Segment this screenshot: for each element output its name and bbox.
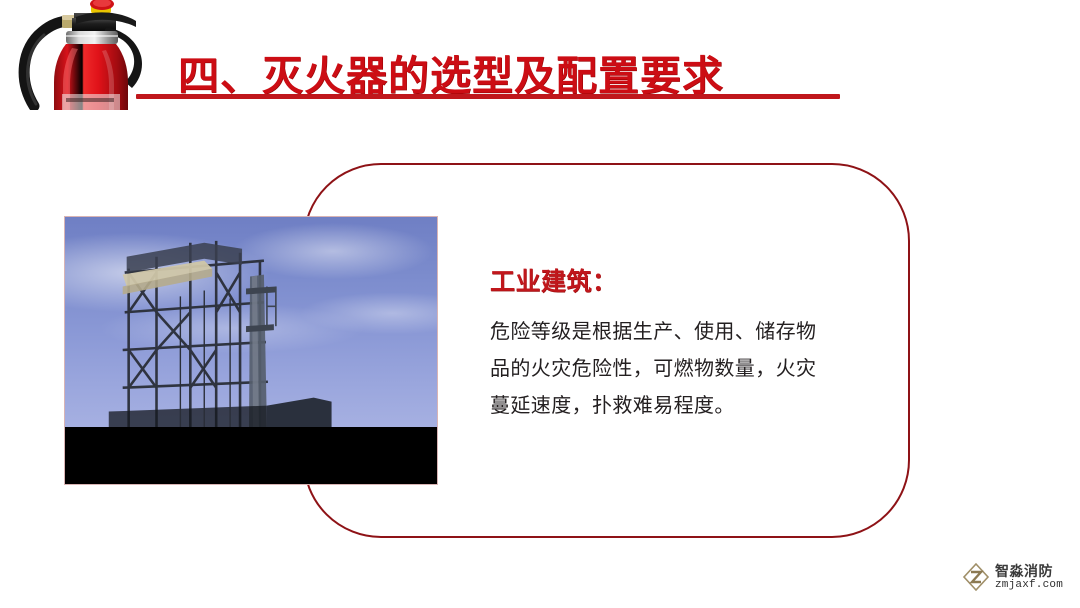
content-line-2: 品的火灾危险性，可燃物数量，火灾 (490, 351, 842, 388)
watermark: 智淼消防 zmjaxf.com (962, 563, 1063, 591)
watermark-url: zmjaxf.com (995, 580, 1063, 591)
content-line-3: 蔓延速度，扑救难易程度。 (490, 388, 842, 425)
watermark-text: 智淼消防 zmjaxf.com (995, 564, 1063, 591)
content-line-1: 危险等级是根据生产、使用、储存物 (490, 314, 842, 351)
watermark-brand: 智淼消防 (995, 564, 1063, 578)
slide-canvas: 四、灭火器的选型及配置要求 (0, 0, 1080, 608)
content-text-block: 工业建筑： 危险等级是根据生产、使用、储存物 品的火灾危险性，可燃物数量，火灾 … (490, 262, 842, 425)
title-underline-rule (136, 94, 840, 99)
fire-extinguisher-icon (10, 0, 155, 110)
page-title: 四、灭火器的选型及配置要求 (178, 42, 724, 102)
zm-diamond-logo-icon (962, 563, 990, 591)
content-heading: 工业建筑： (490, 262, 842, 298)
industrial-plant-photo (64, 216, 438, 485)
photo-lower-black-block (65, 427, 437, 484)
